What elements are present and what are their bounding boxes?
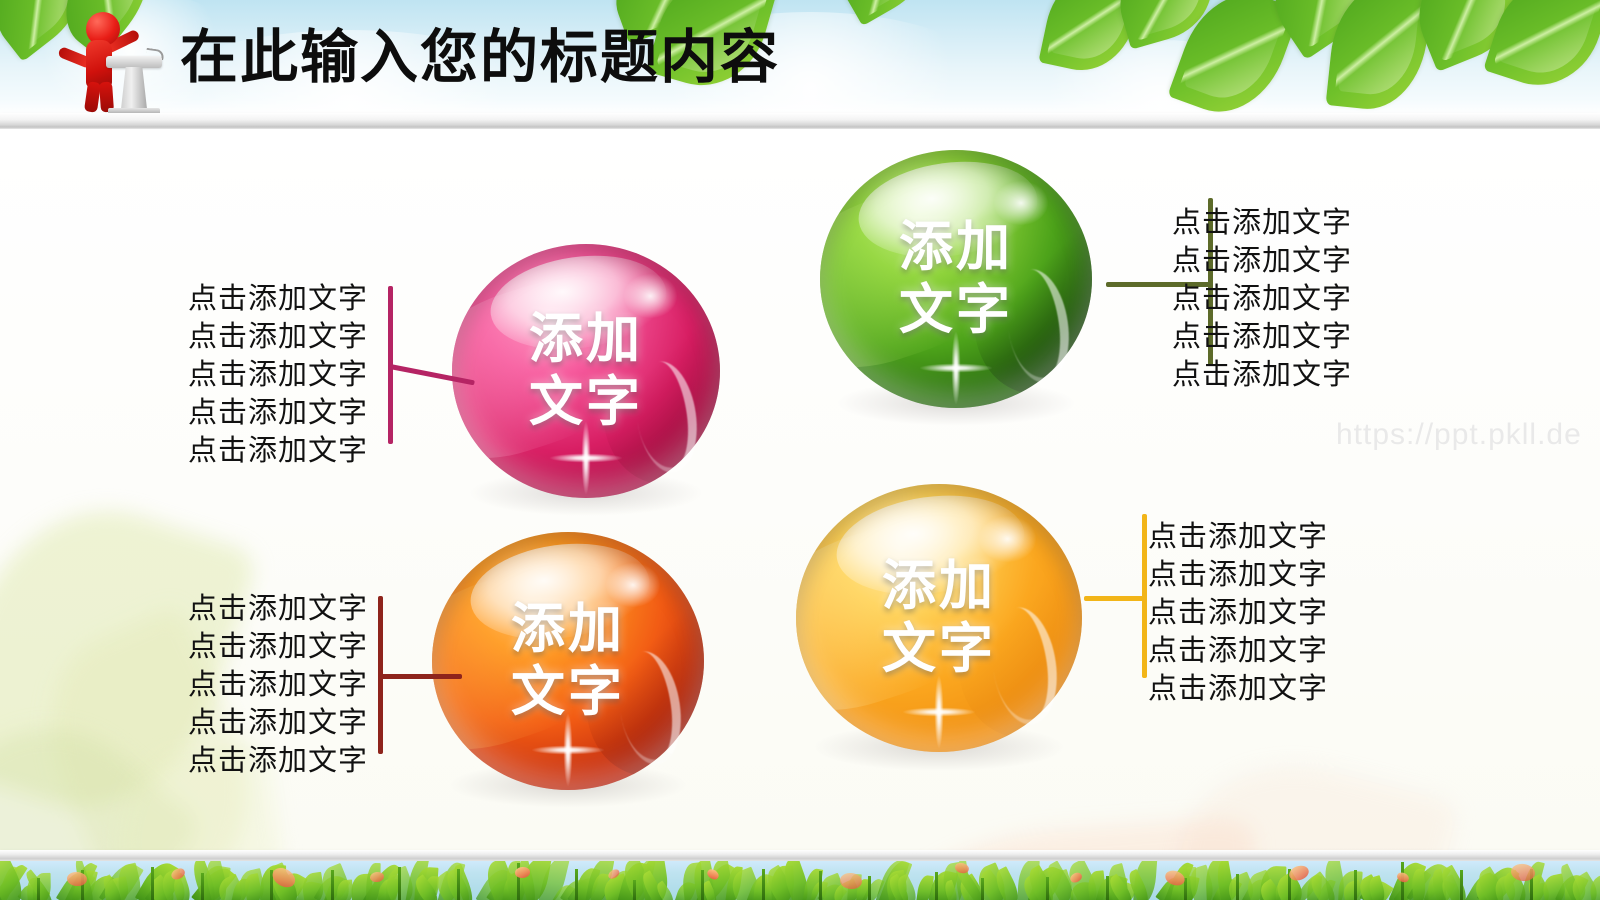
text-line: 点击添加文字	[178, 628, 368, 666]
flower-stem	[331, 870, 334, 900]
footer-divider-ledge	[0, 850, 1600, 861]
connector-line-pink	[388, 286, 468, 444]
flower-stem	[633, 880, 636, 900]
flower-stem	[868, 876, 871, 900]
sphere-label-line2: 文字	[529, 374, 643, 431]
text-line: 点击添加文字	[178, 432, 368, 470]
footer-grass-strip	[0, 861, 1600, 900]
text-line: 点击添加文字	[1148, 670, 1348, 708]
site-watermark: https://ppt.pkll.de	[1336, 418, 1582, 452]
sphere-label-pink: 添加 文字	[529, 311, 643, 431]
text-block-green[interactable]: 点击添加文字 点击添加文字 点击添加文字 点击添加文字 点击添加文字	[1172, 204, 1372, 394]
text-line: 点击添加文字	[178, 666, 368, 704]
text-line: 点击添加文字	[1172, 242, 1372, 280]
sphere-label-line1: 添加	[899, 219, 1013, 276]
flower-stem	[1354, 870, 1357, 900]
flower-stem	[1106, 876, 1109, 900]
sphere-label-line2: 文字	[511, 664, 625, 721]
text-line: 点击添加文字	[1148, 594, 1348, 632]
text-line: 点击添加文字	[178, 742, 368, 780]
slide-header-band: 在此输入您的标题内容	[0, 0, 1600, 115]
sphere-gold[interactable]: 添加 文字	[796, 484, 1082, 752]
text-line: 点击添加文字	[178, 590, 368, 628]
flower-stem	[1236, 874, 1239, 900]
flower-stem	[1460, 870, 1463, 900]
text-line: 点击添加文字	[178, 394, 368, 432]
text-line: 点击添加文字	[1172, 318, 1372, 356]
flower-stem	[819, 871, 822, 900]
sphere-label-line1: 添加	[882, 558, 996, 615]
flower-stem	[37, 878, 40, 900]
slide-title: 在此输入您的标题内容	[180, 26, 780, 90]
leaf-icon	[1326, 0, 1433, 115]
leaf-icon	[1483, 0, 1600, 101]
sphere-label-line2: 文字	[899, 282, 1013, 339]
flower-stem	[701, 870, 704, 900]
sphere-label-orange: 添加 文字	[511, 601, 625, 721]
text-line: 点击添加文字	[178, 356, 368, 394]
text-block-orange[interactable]: 点击添加文字 点击添加文字 点击添加文字 点击添加文字 点击添加文字	[178, 590, 368, 780]
flower-stem	[398, 867, 401, 900]
text-line: 点击添加文字	[178, 318, 368, 356]
sphere-label-gold: 添加 文字	[882, 558, 996, 678]
flower-stem	[201, 873, 204, 900]
sphere-green[interactable]: 添加 文字	[820, 150, 1092, 408]
text-line: 点击添加文字	[178, 280, 368, 318]
flower-stem	[762, 869, 765, 900]
text-line: 点击添加文字	[1148, 632, 1348, 670]
text-line: 点击添加文字	[178, 704, 368, 742]
sphere-label-green: 添加 文字	[899, 219, 1013, 339]
text-line: 点击添加文字	[1172, 280, 1372, 318]
sphere-label-line1: 添加	[529, 311, 643, 368]
flower-stem	[575, 869, 578, 900]
sphere-pink[interactable]: 添加 文字	[452, 244, 720, 498]
connector-line-orange	[378, 596, 456, 754]
flower-stem	[981, 878, 984, 900]
flower-stem	[935, 872, 938, 900]
flower-stem	[1046, 877, 1049, 900]
header-divider-ledge	[0, 113, 1600, 129]
presenter-podium-icon	[48, 6, 158, 114]
text-line: 点击添加文字	[1148, 518, 1348, 556]
flower-stem	[151, 867, 154, 900]
sphere-orange[interactable]: 添加 文字	[432, 532, 704, 790]
flower-stem	[457, 869, 460, 900]
sphere-label-line2: 文字	[882, 621, 996, 678]
text-line: 点击添加文字	[1148, 556, 1348, 594]
text-line: 点击添加文字	[1172, 356, 1372, 394]
presentation-slide: 在此输入您的标题内容 https://ppt.pkll.de 添加 文字	[0, 0, 1600, 900]
text-block-gold[interactable]: 点击添加文字 点击添加文字 点击添加文字 点击添加文字 点击添加文字	[1148, 518, 1348, 708]
text-line: 点击添加文字	[1172, 204, 1372, 242]
text-block-pink[interactable]: 点击添加文字 点击添加文字 点击添加文字 点击添加文字 点击添加文字	[178, 280, 368, 470]
sphere-label-line1: 添加	[511, 601, 625, 658]
